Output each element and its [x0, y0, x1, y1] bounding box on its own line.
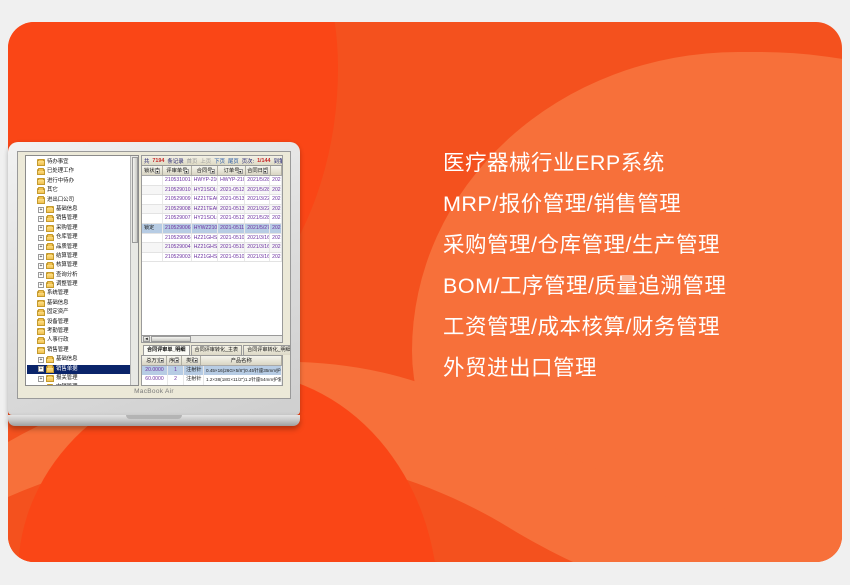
cell-contract_date: 2021/3/16 [245, 243, 270, 252]
table-row[interactable]: 锁定210529006HYWZ2105272021-05112021/5/272… [142, 224, 282, 234]
folder-icon [46, 366, 54, 373]
detail-tab-1[interactable]: 合同评审转化_主表 [191, 345, 243, 355]
tree-item-23[interactable]: +报关管理 [27, 374, 138, 383]
tree-item-3[interactable]: 其它 [27, 186, 138, 195]
prev-page-button[interactable]: 上页 [200, 157, 211, 165]
tree-item-label: 固定资产 [47, 308, 69, 317]
feature-line-6: 外贸进出口管理 [443, 348, 843, 389]
master-column-header-4[interactable]: 合同日期▾ [246, 166, 271, 175]
master-column-header-5[interactable] [271, 166, 282, 175]
cell-order_no: 2021-0513 [218, 205, 245, 214]
erp-application-window: 待办事宜已处理工作进行中待办其它进出口公司+基础信息+销售管理+采购管理+仓库管… [18, 152, 290, 398]
cell-review_no: 210529007 [163, 214, 192, 223]
navigation-tree-panel[interactable]: 待办事宜已处理工作进行中待办其它进出口公司+基础信息+销售管理+采购管理+仓库管… [25, 155, 139, 386]
expand-icon[interactable] [29, 188, 35, 194]
page-index-label: 页次: [242, 157, 254, 165]
expand-icon[interactable]: + [38, 244, 44, 250]
hscroll-left-arrow[interactable]: ◄ [143, 336, 150, 342]
tree-item-12[interactable]: +查询分析 [27, 271, 138, 280]
folder-icon [46, 206, 54, 213]
cell-review_no: 210531001 [163, 176, 192, 185]
cell-tail: 202 [270, 243, 282, 252]
filter-dropdown-icon[interactable]: ▾ [210, 169, 215, 174]
collapse-icon[interactable] [29, 197, 35, 203]
tree-item-label: 考勤管理 [47, 327, 69, 336]
goto-label: 到第 [274, 157, 283, 165]
detail-cell-category: 注射针 [184, 375, 204, 385]
cell-contract_date: 2021/5/28 [245, 186, 270, 195]
filter-dropdown-icon[interactable]: ▾ [238, 169, 243, 174]
folder-icon [37, 300, 45, 307]
expand-icon[interactable] [29, 301, 35, 307]
master-column-header-2[interactable]: 合同号▾ [192, 166, 219, 175]
cell-tail: 202 [270, 176, 282, 185]
filter-dropdown-icon[interactable]: ▾ [263, 169, 268, 174]
cell-tail: 202 [270, 205, 282, 214]
cell-state: 锁定 [142, 224, 163, 233]
cell-state [142, 195, 163, 204]
table-row[interactable]: 210529005HZ21GHS006202021-0510D2021/3/16… [142, 234, 282, 244]
cell-review_no: 210529006 [163, 224, 192, 233]
cell-review_no: 210529009 [163, 195, 192, 204]
detail-cell-seq: 2 [168, 375, 184, 385]
cell-review_no: 210529004 [163, 243, 192, 252]
expand-icon[interactable]: + [38, 225, 44, 231]
tree-item-18[interactable]: 考勤管理 [27, 327, 138, 336]
folder-icon [46, 375, 54, 382]
tree-item-10[interactable]: +结算管理 [27, 252, 138, 261]
cell-contract_date: 2021/3/16 [245, 253, 270, 262]
navigation-tree-list: 待办事宜已处理工作进行中待办其它进出口公司+基础信息+销售管理+采购管理+仓库管… [26, 156, 138, 386]
feature-line-2: MRP/报价管理/销售管理 [443, 184, 843, 225]
cell-order_no: 2021-0510A [218, 253, 245, 262]
cell-state [142, 214, 163, 223]
cell-contract_no: HWYP-21076 [192, 176, 218, 185]
detail-cell-seq: 1 [168, 366, 184, 376]
folder-icon [46, 225, 54, 232]
collapse-icon[interactable] [29, 348, 35, 354]
folder-icon [37, 347, 45, 354]
folder-icon [37, 328, 45, 335]
cell-order_no: 2021-0512-1 [218, 186, 245, 195]
cell-order_no: HWYP-21076 [218, 176, 245, 185]
tree-item-0[interactable]: 待办事宜 [27, 158, 138, 167]
cell-state [142, 186, 163, 195]
cell-state [142, 176, 163, 185]
cell-contract_date: 2021/3/22 [245, 205, 270, 214]
detail-cell-product: 0.45×16(26G×5/8")0.45针座35mm护套0.45×23散装 [204, 366, 282, 376]
folder-icon [37, 197, 45, 204]
cell-state [142, 205, 163, 214]
detail-column-header-2[interactable]: 类别▾ [182, 356, 201, 365]
first-page-button[interactable]: 首页 [187, 157, 198, 165]
cell-contract_no: HZ21TEA00630 [192, 195, 218, 204]
table-row[interactable]: 210529007HY21SOL006502021-05122021/5/282… [142, 214, 282, 224]
cell-contract_no: HZ21GHS00620 [192, 243, 218, 252]
folder-icon [37, 319, 45, 326]
detail-cell-total: 20.0000 [142, 366, 168, 376]
tree-item-label: 其它 [47, 186, 58, 195]
cell-order_no: 2021-0511 [218, 224, 245, 233]
folder-icon [46, 216, 54, 223]
table-row[interactable]: 210531001HWYP-21076HWYP-210762021/5/2820… [142, 176, 282, 186]
cell-contract_date: 2021/5/28 [245, 176, 270, 185]
cell-review_no: 210529008 [163, 205, 192, 214]
cell-order_no: 2021-0512 [218, 214, 245, 223]
detail-cell-category: 注射针 [184, 366, 204, 376]
detail-tab-bar[interactable]: 合同评审单_明细合同评审转化_主表合同评审转化_明细合同评审单_BOM审核人 [141, 345, 283, 355]
laptop-brand-label: MacBook Air [18, 388, 290, 395]
expand-icon[interactable]: + [38, 263, 44, 269]
cell-order_no: 2021-0513-1 [218, 195, 245, 204]
tree-item-5[interactable]: +基础信息 [27, 205, 138, 214]
last-page-button[interactable]: 尾页 [228, 157, 239, 165]
cell-contract_date: 2021/3/22 [245, 195, 270, 204]
table-row[interactable]: 210529004HZ21GHS006202021-0510B2021/3/16… [142, 243, 282, 253]
expand-icon[interactable] [29, 169, 35, 175]
tree-item-20[interactable]: 销售管理 [27, 346, 138, 355]
filter-dropdown-icon[interactable]: ▾ [174, 358, 179, 363]
detail-grid[interactable]: 总万支▾序号▾类别▾产品名称 20.00001注射针0.45×16(26G×5/… [141, 355, 283, 386]
filter-dropdown-icon[interactable]: ▾ [184, 169, 189, 174]
tree-item-label: 进行中待办 [47, 177, 74, 186]
cell-state [142, 253, 163, 262]
tree-item-21[interactable]: +基础信息 [27, 355, 138, 364]
tree-item-label: 核算管理 [56, 261, 78, 270]
cell-tail: 202 [270, 224, 282, 233]
laptop-screen: 待办事宜已处理工作进行中待办其它进出口公司+基础信息+销售管理+采购管理+仓库管… [17, 151, 291, 399]
tree-item-6[interactable]: +销售管理 [27, 214, 138, 223]
laptop-base [8, 415, 300, 426]
tree-item-label: 结算管理 [56, 252, 78, 261]
tree-item-13[interactable]: +调整管理 [27, 280, 138, 289]
tree-scrollbar-thumb[interactable] [132, 157, 138, 243]
expand-icon[interactable]: + [38, 235, 44, 241]
cell-review_no: 210529010 [163, 186, 192, 195]
laptop-lid: 待办事宜已处理工作进行中待办其它进出口公司+基础信息+销售管理+采购管理+仓库管… [8, 142, 300, 415]
cell-state [142, 234, 163, 243]
table-row[interactable]: 210529003HZ21GHS006202021-0510A2021/3/16… [142, 253, 282, 263]
contract-review-grid-header: 锁状态▾评审单号▾合同号▾订单号▾合同日期▾ [142, 166, 282, 176]
expand-icon[interactable]: + [38, 216, 44, 222]
detail-cell-product: 1.2×38(18G×11/2")1.2针座54mm护套1.2×45散装 [204, 375, 282, 385]
tree-item-label: 销售单据 [56, 365, 78, 374]
expand-icon[interactable] [29, 160, 35, 166]
expand-icon[interactable]: + [38, 254, 44, 260]
folder-icon [37, 178, 45, 185]
expand-icon[interactable]: + [38, 207, 44, 213]
pagination-toolbar[interactable]: 共 7194 条记录 首页 上页 下页 尾页 页次: 1/144 到第 1 页 [141, 155, 283, 166]
folder-icon [46, 263, 54, 270]
records-label: 条记录 [167, 157, 183, 165]
cell-contract_no: HZ21GHS00620 [192, 253, 218, 262]
expand-icon[interactable]: + [38, 282, 44, 288]
tree-item-label: 查询分析 [56, 271, 78, 280]
cell-tail: 202 [270, 253, 282, 262]
detail-tab-2[interactable]: 合同评审转化_明细 [243, 345, 291, 355]
folder-icon [46, 357, 54, 364]
main-content: 共 7194 条记录 首页 上页 下页 尾页 页次: 1/144 到第 1 页 [141, 155, 283, 386]
tree-item-label: 人事行政 [47, 336, 69, 345]
filter-dropdown-icon[interactable]: ▾ [155, 169, 160, 174]
feature-line-3: 采购管理/仓库管理/生产管理 [443, 225, 843, 266]
folder-icon [37, 310, 45, 317]
tree-item-4[interactable]: 进出口公司 [27, 196, 138, 205]
tree-item-8[interactable]: +仓库管理 [27, 233, 138, 242]
tree-item-label: 调整管理 [56, 280, 78, 289]
detail-column-label: 产品名称 [231, 358, 252, 364]
table-row[interactable]: 210529009HZ21TEA006302021-0513-12021/3/2… [142, 195, 282, 205]
tree-item-1[interactable]: 已处理工作 [27, 167, 138, 176]
folder-icon [37, 169, 45, 176]
table-row[interactable]: 210529010HY21SOL006502021-0512-12021/5/2… [142, 186, 282, 196]
cell-tail: 202 [270, 195, 282, 204]
tree-item-label: 待办事宜 [47, 158, 69, 167]
promo-banner: 医疗器械行业ERP系统 MRP/报价管理/销售管理 采购管理/仓库管理/生产管理… [0, 0, 850, 585]
tree-item-9[interactable]: +品质管理 [27, 243, 138, 252]
expand-icon[interactable]: + [38, 366, 44, 372]
folder-icon [37, 291, 45, 298]
tree-item-label: 基础信息 [56, 355, 78, 364]
cell-order_no: 2021-0510D [218, 234, 245, 243]
cell-contract_no: HZ21TEA00630 [192, 205, 218, 214]
tree-item-label: 报关管理 [56, 374, 78, 383]
tree-item-16[interactable]: 固定资产 [27, 308, 138, 317]
contract-review-grid[interactable]: 锁状态▾评审单号▾合同号▾订单号▾合同日期▾ 210531001HWYP-210… [141, 166, 283, 336]
cell-contract_no: HYWZ210527 [192, 224, 218, 233]
detail-row[interactable]: 60.00002注射针1.2×38(18G×11/2")1.2针座54mm护套1… [142, 375, 282, 385]
folder-icon [46, 244, 54, 251]
feature-line-1: 医疗器械行业ERP系统 [443, 143, 843, 184]
filter-dropdown-icon[interactable]: ▾ [159, 358, 164, 363]
cell-contract_no: HY21SOL00650 [192, 214, 218, 223]
table-row[interactable]: 210529008HZ21TEA006302021-05132021/3/222… [142, 205, 282, 215]
tree-item-2[interactable]: 进行中待办 [27, 177, 138, 186]
folder-icon [46, 253, 54, 260]
expand-icon[interactable]: + [38, 357, 44, 363]
expand-icon[interactable] [29, 291, 35, 297]
tree-item-15[interactable]: 基础信息 [27, 299, 138, 308]
cell-contract_date: 2021/5/28 [245, 214, 270, 223]
detail-row[interactable]: 20.00001注射针0.45×16(26G×5/8")0.45针座35mm护套… [142, 366, 282, 376]
tree-item-11[interactable]: +核算管理 [27, 261, 138, 270]
feature-list: 医疗器械行业ERP系统 MRP/报价管理/销售管理 采购管理/仓库管理/生产管理… [443, 143, 843, 389]
detail-cell-total: 60.0000 [142, 375, 168, 385]
folder-icon [37, 188, 45, 195]
tree-item-19[interactable]: 人事行政 [27, 336, 138, 345]
detail-tab-0[interactable]: 合同评审单_明细 [143, 345, 190, 355]
detail-grid-header: 总万支▾序号▾类别▾产品名称 [142, 356, 282, 366]
cell-contract_date: 2021/3/16 [245, 234, 270, 243]
tree-item-label: 品质管理 [56, 243, 78, 252]
cell-contract_no: HY21SOL00650 [192, 186, 218, 195]
tree-item-label: 系统管理 [47, 289, 69, 298]
detail-column-header-0[interactable]: 总万支▾ [142, 356, 167, 365]
folder-icon [46, 235, 54, 242]
tree-item-label: 销售管理 [47, 346, 69, 355]
cell-contract_no: HZ21GHS00620 [192, 234, 218, 243]
cell-tail: 202 [270, 186, 282, 195]
cell-order_no: 2021-0510B [218, 243, 245, 252]
tree-item-label: 内销管理 [56, 383, 78, 386]
master-grid-hscrollbar[interactable]: ◄ [141, 336, 283, 343]
tree-scrollbar[interactable] [130, 156, 138, 385]
tree-item-24[interactable]: +内销管理 [27, 383, 138, 386]
tree-item-label: 销售管理 [56, 214, 78, 223]
expand-icon[interactable]: + [38, 385, 44, 386]
tree-item-14[interactable]: 系统管理 [27, 289, 138, 298]
detail-column-header-3[interactable]: 产品名称 [201, 356, 282, 365]
contract-review-grid-body[interactable]: 210531001HWYP-21076HWYP-210762021/5/2820… [142, 176, 282, 335]
tree-item-label: 设备管理 [47, 318, 69, 327]
cell-state [142, 243, 163, 252]
feature-line-4: BOM/工序管理/质量追溯管理 [443, 266, 843, 307]
total-count: 7194 [152, 158, 164, 164]
master-column-header-3[interactable]: 订单号▾ [218, 166, 245, 175]
page-index-value: 1/144 [257, 158, 271, 164]
tree-item-label: 采购管理 [56, 224, 78, 233]
expand-icon[interactable] [29, 319, 35, 325]
cell-review_no: 210529003 [163, 253, 192, 262]
folder-icon [46, 272, 54, 279]
tree-item-label: 已处理工作 [47, 167, 74, 176]
cell-contract_date: 2021/5/27 [245, 224, 270, 233]
cell-tail: 202 [270, 234, 282, 243]
detail-grid-body[interactable]: 20.00001注射针0.45×16(26G×5/8")0.45针座35mm护套… [142, 366, 282, 385]
tree-item-label: 仓库管理 [56, 233, 78, 242]
folder-icon [46, 385, 54, 386]
laptop-notch [126, 415, 182, 419]
tree-item-label: 进出口公司 [47, 196, 74, 205]
cell-review_no: 210529005 [163, 234, 192, 243]
hscroll-thumb[interactable] [151, 336, 191, 342]
tree-item-22[interactable]: +销售单据 [27, 365, 138, 374]
cell-tail: 202 [270, 214, 282, 223]
expand-icon[interactable]: + [38, 272, 44, 278]
expand-icon[interactable] [29, 178, 35, 184]
feature-line-5: 工资管理/成本核算/财务管理 [443, 307, 843, 348]
total-label: 共 [144, 157, 149, 165]
detail-column-header-1[interactable]: 序号▾ [167, 356, 182, 365]
folder-icon [46, 282, 54, 289]
master-column-header-0[interactable]: 锁状态▾ [142, 166, 163, 175]
folder-icon [37, 159, 45, 166]
filter-dropdown-icon[interactable]: ▾ [193, 358, 198, 363]
laptop-mockup: 待办事宜已处理工作进行中待办其它进出口公司+基础信息+销售管理+采购管理+仓库管… [8, 142, 300, 426]
expand-icon[interactable] [29, 338, 35, 344]
next-page-button[interactable]: 下页 [214, 157, 225, 165]
expand-icon[interactable]: + [38, 376, 44, 382]
tree-item-label: 基础信息 [56, 205, 78, 214]
tree-item-label: 基础信息 [47, 299, 69, 308]
tree-item-17[interactable]: 设备管理 [27, 318, 138, 327]
master-column-header-1[interactable]: 评审单号▾ [163, 166, 192, 175]
tree-item-7[interactable]: +采购管理 [27, 224, 138, 233]
expand-icon[interactable] [29, 310, 35, 316]
expand-icon[interactable] [29, 329, 35, 335]
folder-icon [37, 338, 45, 345]
